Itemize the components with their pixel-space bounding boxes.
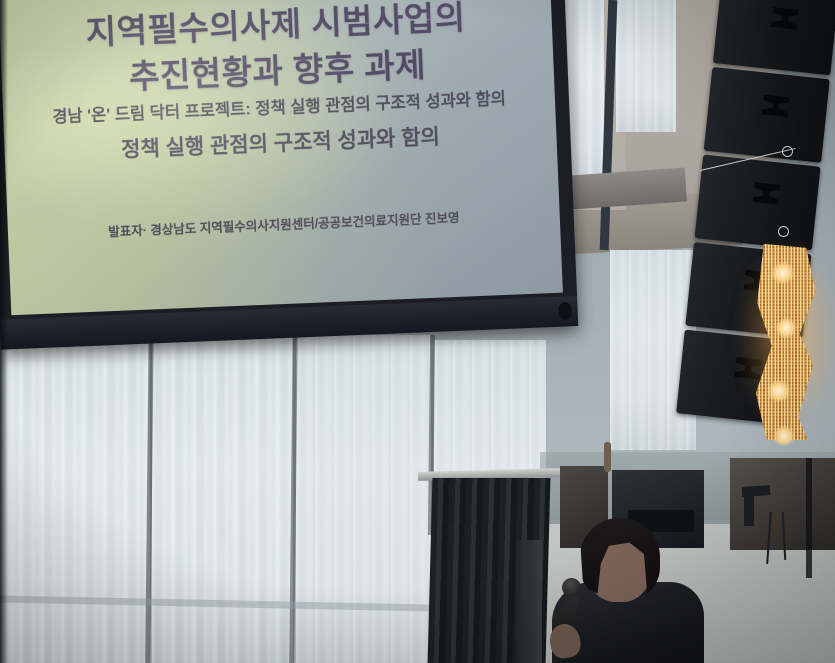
mic-stand-top (604, 442, 611, 472)
screen-end-cap (558, 302, 572, 320)
window-pane-upper-right (616, 0, 676, 132)
chandelier-bulb (770, 262, 796, 284)
photo-scene: 지역필수의사제 시범사업의 추진현황과 향후 과제 경남 '온' 드림 닥터 프… (0, 0, 835, 663)
slide-presenter-line: 발표자· 경상남도 지역필수의사지원센터/공공보건의료지원단 진보영 (8, 203, 560, 245)
sheer-curtain-texture (296, 335, 431, 663)
chandelier-bulb (772, 426, 796, 446)
slide-surface: 지역필수의사제 시범사업의 추진현황과 향후 과제 경남 '온' 드림 닥터 프… (0, 0, 563, 315)
foreground-post (516, 540, 542, 663)
sheer-curtain-texture (152, 330, 293, 663)
booth-frame-post (806, 458, 812, 578)
chandelier-bulb (766, 380, 792, 402)
window-pane-center (296, 335, 431, 663)
wall-mount-arm (744, 492, 754, 526)
projection-screen: 지역필수의사제 시범사업의 추진현황과 향후 과제 경남 '온' 드림 닥터 프… (0, 0, 578, 350)
presenter (540, 520, 720, 663)
window-pane-center-left (152, 330, 293, 663)
photo-left-edge-shadow (0, 0, 8, 663)
window-pane-left (0, 325, 150, 663)
crystal-chandelier (748, 244, 824, 444)
sheer-curtain-texture (616, 0, 676, 132)
chandelier-bulb (774, 318, 798, 338)
rigging-ring (782, 146, 793, 157)
sheer-curtain-texture (0, 325, 150, 663)
